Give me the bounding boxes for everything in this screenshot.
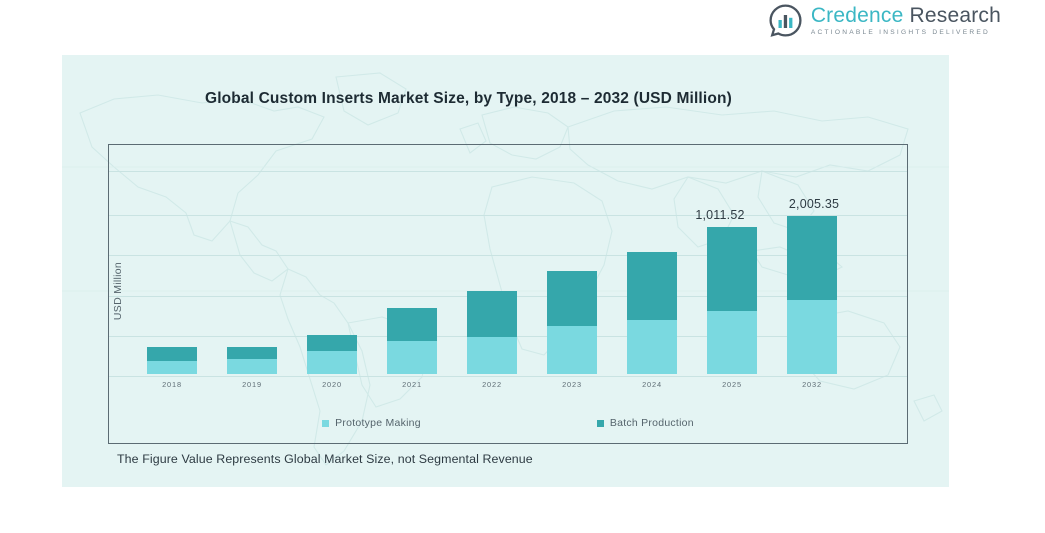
- bar-group-2024[interactable]: [627, 252, 677, 374]
- bar-group-2022[interactable]: [467, 291, 517, 374]
- bar-segment-prototype-making[interactable]: [147, 361, 197, 374]
- x-axis: 2018 2019 2020 2021 2022 2023 2024 2025 …: [109, 380, 907, 396]
- legend-item-prototype-making[interactable]: Prototype Making: [322, 417, 421, 429]
- bar-group-2021[interactable]: [387, 308, 437, 374]
- bar-segment-prototype-making[interactable]: [627, 320, 677, 374]
- bar-segment-batch-production[interactable]: [227, 347, 277, 359]
- bar-value-label-2025: 1,011.52: [695, 208, 744, 222]
- bar-segment-batch-production[interactable]: [307, 335, 357, 351]
- x-tick-2023: 2023: [562, 380, 582, 389]
- bar-segment-prototype-making[interactable]: [547, 326, 597, 374]
- plot-area: USD Million: [108, 144, 908, 444]
- bar-segment-prototype-making[interactable]: [787, 300, 837, 374]
- legend-label-prototype-making: Prototype Making: [335, 417, 421, 429]
- bar-series-container: 1,011.52 2,005.35: [109, 145, 907, 374]
- bar-segment-batch-production[interactable]: [387, 308, 437, 341]
- x-tick-2025: 2025: [722, 380, 742, 389]
- x-tick-2022: 2022: [482, 380, 502, 389]
- x-tick-2019: 2019: [242, 380, 262, 389]
- bar-group-2019[interactable]: [227, 347, 277, 374]
- bar-segment-batch-production[interactable]: [547, 271, 597, 326]
- brand-name-part1: Credence: [811, 4, 904, 27]
- legend-item-batch-production[interactable]: Batch Production: [597, 417, 694, 429]
- chart-footnote: The Figure Value Represents Global Marke…: [117, 452, 533, 466]
- bar-segment-prototype-making[interactable]: [707, 311, 757, 374]
- legend-label-batch-production: Batch Production: [610, 417, 694, 429]
- bar-segment-prototype-making[interactable]: [227, 359, 277, 374]
- x-tick-2020: 2020: [322, 380, 342, 389]
- bar-group-2032[interactable]: [787, 216, 837, 374]
- legend-swatch-prototype-making: [322, 420, 329, 427]
- bar-group-2020[interactable]: [307, 335, 357, 374]
- brand-tagline: Actionable Insights Delivered: [811, 30, 1001, 37]
- bar-chart-speech-bubble-icon: [769, 4, 802, 37]
- brand-name-part2: Research: [910, 4, 1001, 27]
- bar-group-2018[interactable]: [147, 347, 197, 374]
- chart-legend: Prototype Making Batch Production: [109, 417, 907, 429]
- gridline: [109, 376, 907, 377]
- bar-segment-batch-production[interactable]: [467, 291, 517, 337]
- bar-segment-batch-production[interactable]: [787, 216, 837, 300]
- bar-group-2023[interactable]: [547, 271, 597, 374]
- x-tick-2024: 2024: [642, 380, 662, 389]
- bar-segment-batch-production[interactable]: [707, 227, 757, 311]
- bar-segment-prototype-making[interactable]: [307, 351, 357, 374]
- brand-wordmark: Credence Research Actionable Insights De…: [811, 5, 1001, 37]
- x-tick-2021: 2021: [402, 380, 422, 389]
- x-tick-2018: 2018: [162, 380, 182, 389]
- brand-name: Credence Research: [811, 5, 1001, 26]
- chart-title: Global Custom Inserts Market Size, by Ty…: [205, 90, 732, 108]
- x-tick-2032: 2032: [802, 380, 822, 389]
- chart-panel: Global Custom Inserts Market Size, by Ty…: [62, 55, 949, 487]
- bar-segment-batch-production[interactable]: [147, 347, 197, 361]
- bar-segment-prototype-making[interactable]: [387, 341, 437, 374]
- legend-swatch-batch-production: [597, 420, 604, 427]
- bar-group-2025[interactable]: [707, 227, 757, 374]
- bar-segment-prototype-making[interactable]: [467, 337, 517, 374]
- brand-logo: Credence Research Actionable Insights De…: [769, 4, 1001, 37]
- bar-value-label-2032: 2,005.35: [789, 197, 839, 211]
- bar-segment-batch-production[interactable]: [627, 252, 677, 320]
